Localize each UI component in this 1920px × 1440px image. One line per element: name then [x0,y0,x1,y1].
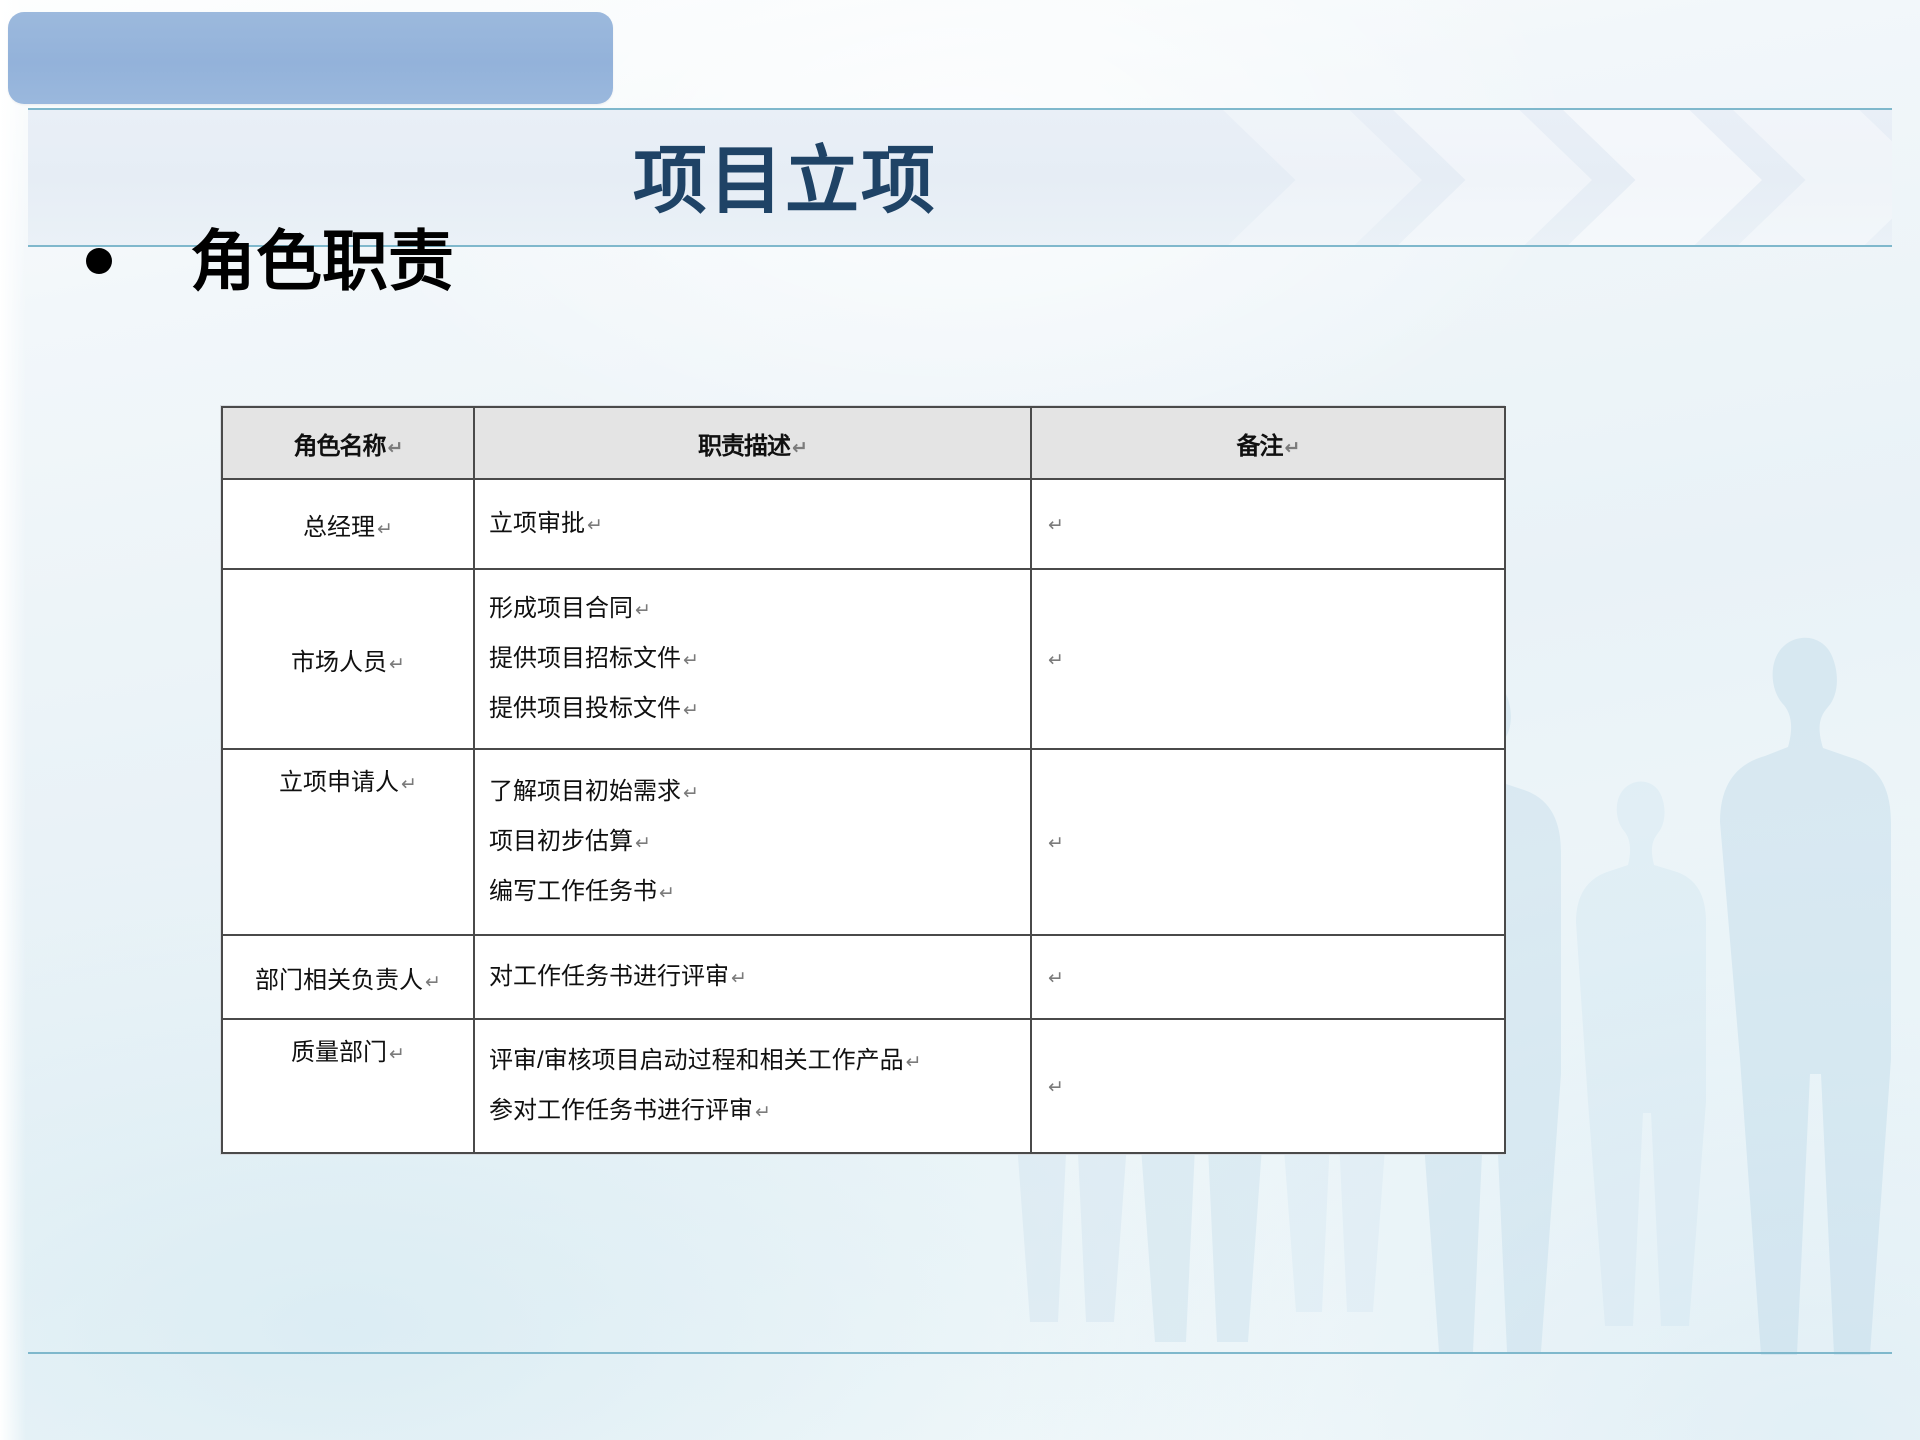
paragraph-mark-icon: ↵ [1285,437,1300,459]
table-header-role-label: 角色名称 [294,433,386,460]
duty-text: 了解项目初始需求 [489,778,681,805]
cell-note: ↵ [1031,569,1505,749]
duty-line: 立项审批↵ [489,512,1016,536]
paragraph-mark-icon: ↵ [683,649,699,671]
duty-line: 项目初步估算↵ [489,830,1016,854]
table-row: 总经理↵ 立项审批↵ ↵ [222,479,1505,569]
cell-note: ↵ [1031,1019,1505,1153]
cell-role: 总经理↵ [222,479,474,569]
table-header-note-label: 备注 [1237,433,1283,460]
duty-line: 编写工作任务书↵ [489,880,1016,904]
duty-text: 立项审批 [489,510,585,537]
paragraph-mark-icon: ↵ [1048,1076,1064,1098]
duty-text: 参对工作任务书进行评审 [489,1097,753,1124]
paragraph-mark-icon: ↵ [906,1051,922,1073]
table-row: 立项申请人↵ 了解项目初始需求↵ 项目初步估算↵ 编写工作任务书↵ ↵ [222,749,1505,935]
role-label: 市场人员 [291,649,387,676]
duty-line: 了解项目初始需求↵ [489,780,1016,804]
paragraph-mark-icon: ↵ [388,437,403,459]
paragraph-mark-icon: ↵ [389,1043,405,1065]
table-header-note: 备注↵ [1031,407,1505,479]
role-responsibility-table: 角色名称↵ 职责描述↵ 备注↵ 总经理↵ 立项审批↵ ↵ 市场人员↵ 形成项目合… [221,406,1506,1154]
role-label: 质量部门 [291,1039,387,1066]
paragraph-mark-icon: ↵ [389,653,405,675]
paragraph-mark-icon: ↵ [401,773,417,795]
cell-role: 质量部门↵ [222,1019,474,1153]
table-header-row: 角色名称↵ 职责描述↵ 备注↵ [222,407,1505,479]
cell-duties: 对工作任务书进行评审↵ [474,935,1031,1019]
duty-line: 对工作任务书进行评审↵ [489,965,1016,989]
duty-text: 形成项目合同 [489,595,633,622]
duty-line: 评审/审核项目启动过程和相关工作产品↵ [489,1049,1016,1073]
paragraph-mark-icon: ↵ [1048,514,1064,536]
table-row: 市场人员↵ 形成项目合同↵ 提供项目招标文件↵ 提供项目投标文件↵ ↵ [222,569,1505,749]
paragraph-mark-icon: ↵ [731,967,747,989]
role-label: 总经理 [303,514,375,541]
paragraph-mark-icon: ↵ [792,437,807,459]
cell-duties: 评审/审核项目启动过程和相关工作产品↵ 参对工作任务书进行评审↵ [474,1019,1031,1153]
paragraph-mark-icon: ↵ [1048,649,1064,671]
cell-role: 立项申请人↵ [222,749,474,935]
bullet-dot-icon [86,248,112,274]
paragraph-mark-icon: ↵ [659,882,675,904]
cell-note: ↵ [1031,749,1505,935]
paragraph-mark-icon: ↵ [683,782,699,804]
duty-text: 评审/审核项目启动过程和相关工作产品 [489,1047,904,1074]
corner-tab-decoration [8,12,613,104]
paragraph-mark-icon: ↵ [377,518,393,540]
table-header-role: 角色名称↵ [222,407,474,479]
table-row: 部门相关负责人↵ 对工作任务书进行评审↵ ↵ [222,935,1505,1019]
paragraph-mark-icon: ↵ [1048,967,1064,989]
paragraph-mark-icon: ↵ [683,699,699,721]
duty-text: 提供项目招标文件 [489,645,681,672]
duty-text: 提供项目投标文件 [489,695,681,722]
duty-text: 编写工作任务书 [489,878,657,905]
role-label: 部门相关负责人 [255,967,423,994]
paragraph-mark-icon: ↵ [425,971,441,993]
bottom-accent-rule [28,1352,1892,1354]
duty-line: 提供项目投标文件↵ [489,697,1016,721]
duty-line: 提供项目招标文件↵ [489,647,1016,671]
table-header-duty: 职责描述↵ [474,407,1031,479]
duty-text: 项目初步估算 [489,828,633,855]
paragraph-mark-icon: ↵ [1048,832,1064,854]
paragraph-mark-icon: ↵ [587,514,603,536]
cell-duties: 形成项目合同↵ 提供项目招标文件↵ 提供项目投标文件↵ [474,569,1031,749]
table-header-duty-label: 职责描述 [698,433,790,460]
cell-duties: 了解项目初始需求↵ 项目初步估算↵ 编写工作任务书↵ [474,749,1031,935]
cell-duties: 立项审批↵ [474,479,1031,569]
cell-role: 部门相关负责人↵ [222,935,474,1019]
paragraph-mark-icon: ↵ [635,832,651,854]
role-responsibility-table-wrapper: 角色名称↵ 职责描述↵ 备注↵ 总经理↵ 立项审批↵ ↵ 市场人员↵ 形成项目合… [221,406,1504,1154]
cell-note: ↵ [1031,935,1505,1019]
page-title: 项目立项 [0,110,1570,238]
slide-canvas: 项目立项 角色职责 角色名称↵ 职责描述↵ 备注↵ 总经理↵ 立项审批 [0,0,1920,1440]
paragraph-mark-icon: ↵ [755,1101,771,1123]
role-label: 立项申请人 [279,769,399,796]
duty-line: 形成项目合同↵ [489,597,1016,621]
duty-text: 对工作任务书进行评审 [489,963,729,990]
duty-line: 参对工作任务书进行评审↵ [489,1099,1016,1123]
paragraph-mark-icon: ↵ [635,599,651,621]
cell-role: 市场人员↵ [222,569,474,749]
cell-note: ↵ [1031,479,1505,569]
table-row: 质量部门↵ 评审/审核项目启动过程和相关工作产品↵ 参对工作任务书进行评审↵ ↵ [222,1019,1505,1153]
